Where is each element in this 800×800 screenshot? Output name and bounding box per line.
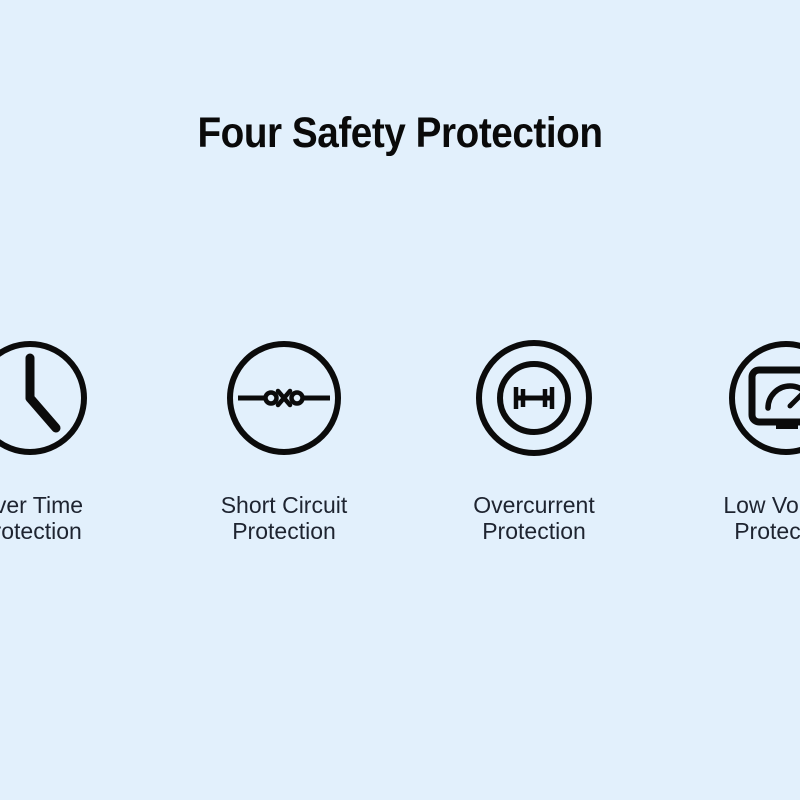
page-title: Four Safety Protection: [40, 112, 760, 155]
clock-icon: [0, 330, 140, 465]
feature-label: Low Voltage Protection: [676, 493, 800, 545]
low-voltage-monitor-icon: [676, 330, 800, 465]
feature-over-time-protection: Over Time Protection: [0, 330, 140, 545]
feature-label: Over Time Protection: [0, 493, 140, 545]
feature-label: Short Circuit Protection: [174, 493, 394, 545]
safety-protection-infographic: Four Safety Protection Over Time Protect…: [0, 0, 800, 800]
short-circuit-icon: [174, 330, 394, 465]
overcurrent-icon: [424, 330, 644, 465]
feature-overcurrent-protection: Overcurrent Protection: [424, 330, 644, 545]
feature-short-circuit-protection: Short Circuit Protection: [174, 330, 394, 545]
feature-label: Overcurrent Protection: [424, 493, 644, 545]
feature-low-voltage-protection: Low Voltage Protection: [676, 330, 800, 545]
